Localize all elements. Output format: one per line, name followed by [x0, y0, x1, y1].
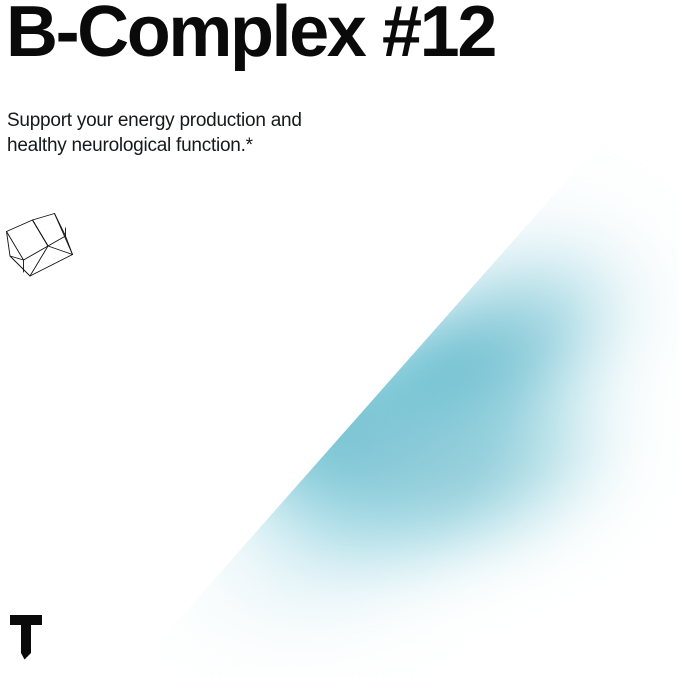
thorne-t-logo — [8, 612, 54, 662]
product-subtitle: Support your energy production and healt… — [7, 108, 302, 158]
teal-gradient-artwork — [0, 0, 679, 677]
gradient-sheen — [0, 0, 679, 677]
wireframe-polyhedron-icon — [2, 198, 86, 282]
page-title: B-Complex #12 — [6, 0, 495, 68]
product-panel: B-Complex #12 Support your energy produc… — [0, 0, 679, 677]
